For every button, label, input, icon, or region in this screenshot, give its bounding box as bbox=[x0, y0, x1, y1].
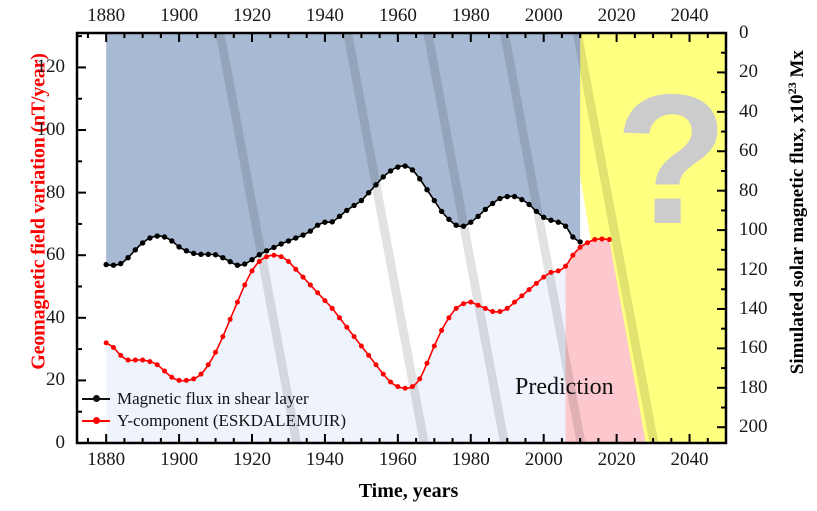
y-tick-left-0: 0 bbox=[56, 432, 66, 454]
x-tick-top-1940: 1940 bbox=[306, 5, 344, 27]
y-tick-right-20: 20 bbox=[739, 61, 758, 83]
y-tick-right-100: 100 bbox=[739, 219, 768, 241]
y-tick-left-120: 120 bbox=[37, 56, 66, 78]
x-axis-title: Time, years bbox=[0, 480, 817, 503]
legend-item-y-component: Y-component (ESKDALEMUIR) bbox=[82, 410, 346, 432]
x-tick-bottom-1940: 1940 bbox=[306, 449, 344, 471]
y-tick-left-20: 20 bbox=[46, 369, 65, 391]
y-tick-right-160: 160 bbox=[739, 337, 768, 359]
x-tick-bottom-1980: 1980 bbox=[452, 449, 490, 471]
x-tick-top-1980: 1980 bbox=[452, 5, 490, 27]
y-tick-right-0: 0 bbox=[739, 22, 749, 44]
x-tick-top-1900: 1900 bbox=[160, 5, 198, 27]
x-tick-top-1920: 1920 bbox=[233, 5, 271, 27]
question-mark-annotation: ? bbox=[615, 85, 728, 235]
y-tick-right-80: 80 bbox=[739, 180, 758, 202]
legend-label-y-component: Y-component (ESKDALEMUIR) bbox=[117, 411, 346, 431]
legend: Magnetic flux in shear layer Y-component… bbox=[82, 388, 346, 432]
y-tick-right-200: 200 bbox=[739, 416, 768, 438]
x-tick-bottom-1880: 1880 bbox=[87, 449, 125, 471]
chart-figure: ? Prediction Magnetic flux in shear laye… bbox=[0, 0, 817, 511]
legend-marker-red-icon bbox=[82, 415, 110, 427]
x-tick-bottom-2020: 2020 bbox=[598, 449, 636, 471]
legend-marker-black-icon bbox=[82, 393, 110, 405]
y-axis-right-exponent: 23 bbox=[785, 82, 799, 94]
y-axis-right-title-b: Mx bbox=[787, 50, 808, 82]
y-tick-left-60: 60 bbox=[46, 244, 65, 266]
legend-item-magnetic-flux: Magnetic flux in shear layer bbox=[82, 388, 346, 410]
prediction-annotation: Prediction bbox=[515, 374, 614, 401]
x-tick-top-2040: 2040 bbox=[671, 5, 709, 27]
legend-label-magnetic-flux: Magnetic flux in shear layer bbox=[117, 389, 309, 409]
y-axis-right-title: Simulated solar magnetic flux, x1023 Mx bbox=[785, 0, 809, 447]
y-tick-right-140: 140 bbox=[739, 298, 768, 320]
y-tick-left-80: 80 bbox=[46, 182, 65, 204]
x-tick-bottom-1920: 1920 bbox=[233, 449, 271, 471]
y-tick-right-120: 120 bbox=[739, 259, 768, 281]
x-tick-bottom-1960: 1960 bbox=[379, 449, 417, 471]
y-tick-right-180: 180 bbox=[739, 377, 768, 399]
x-tick-bottom-2040: 2040 bbox=[671, 449, 709, 471]
x-tick-top-2000: 2000 bbox=[525, 5, 563, 27]
x-tick-bottom-2000: 2000 bbox=[525, 449, 563, 471]
x-tick-bottom-1900: 1900 bbox=[160, 449, 198, 471]
y-tick-left-40: 40 bbox=[46, 307, 65, 329]
y-tick-left-100: 100 bbox=[37, 119, 66, 141]
x-tick-top-1960: 1960 bbox=[379, 5, 417, 27]
y-tick-right-40: 40 bbox=[739, 101, 758, 123]
y-tick-right-60: 60 bbox=[739, 140, 758, 162]
x-tick-top-1880: 1880 bbox=[87, 5, 125, 27]
y-axis-right-title-a: Simulated solar magnetic flux, x10 bbox=[787, 94, 808, 374]
x-tick-top-2020: 2020 bbox=[598, 5, 636, 27]
